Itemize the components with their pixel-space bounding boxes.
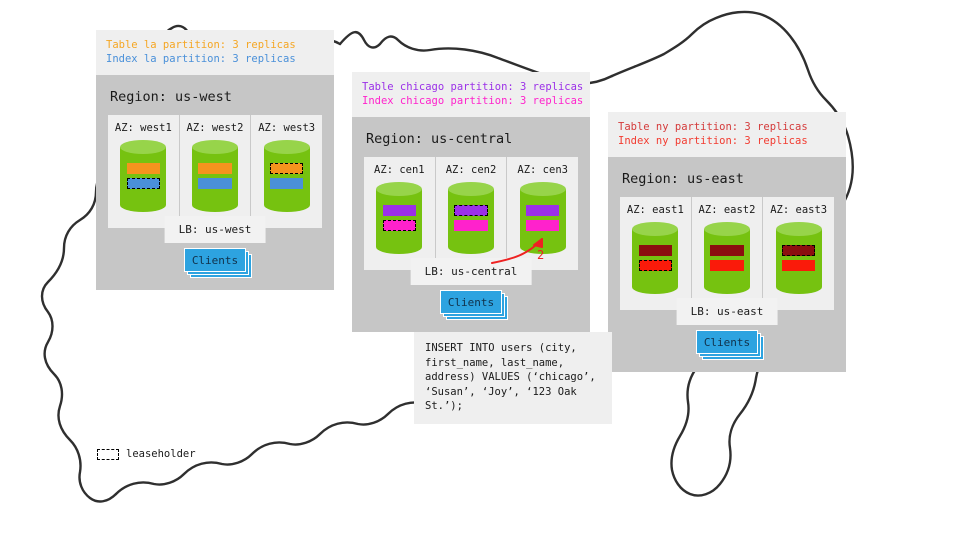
table-replica-bar bbox=[127, 163, 160, 174]
partition-line: Table chicago partition: 3 replicas bbox=[362, 80, 580, 94]
index-replica-bar bbox=[639, 260, 672, 271]
clients-stack-us-west[interactable]: Clients bbox=[184, 248, 246, 272]
clients-stack-us-central[interactable]: Clients bbox=[440, 290, 502, 314]
region-us-west: Table la partition: 3 replicasIndex la p… bbox=[96, 30, 334, 290]
az-cell-az-west1: AZ: west1 bbox=[108, 115, 179, 228]
replica-bars bbox=[120, 140, 166, 212]
database-cylinder bbox=[448, 182, 494, 254]
table-replica-bar bbox=[454, 205, 487, 216]
leaseholder-swatch-icon bbox=[97, 449, 119, 460]
az-strip-us-central: AZ: cen1AZ: cen2AZ: cen3 bbox=[364, 157, 578, 270]
az-cell-az-east2: AZ: east2 bbox=[691, 197, 763, 310]
table-replica-bar bbox=[710, 245, 743, 256]
az-cell-az-west3: AZ: west3 bbox=[250, 115, 322, 228]
partition-line: Index chicago partition: 3 replicas bbox=[362, 94, 580, 108]
legend-label: leaseholder bbox=[126, 448, 196, 460]
database-cylinder bbox=[192, 140, 238, 212]
diagram-canvas: Table la partition: 3 replicasIndex la p… bbox=[0, 0, 960, 540]
region-body-us-east: Region: us-eastAZ: east1AZ: east2AZ: eas… bbox=[608, 157, 846, 372]
az-cell-az-cen1: AZ: cen1 bbox=[364, 157, 435, 270]
index-replica-bar bbox=[383, 220, 416, 231]
index-replica-bar bbox=[526, 220, 559, 231]
az-label: AZ: cen2 bbox=[436, 164, 507, 176]
table-replica-bar bbox=[383, 205, 416, 216]
index-replica-bar bbox=[454, 220, 487, 231]
clients-row: Clients bbox=[620, 310, 834, 372]
database-cylinder bbox=[376, 182, 422, 254]
region-title: Region: us-east bbox=[622, 171, 834, 187]
az-label: AZ: west1 bbox=[108, 122, 179, 134]
partition-header-us-east: Table ny partition: 3 replicasIndex ny p… bbox=[608, 112, 846, 157]
az-label: AZ: west2 bbox=[180, 122, 251, 134]
database-cylinder bbox=[120, 140, 166, 212]
partition-line: Index la partition: 3 replicas bbox=[106, 52, 324, 66]
replica-bars bbox=[192, 140, 238, 212]
step-number-label: 2 bbox=[537, 248, 544, 262]
partition-line: Index ny partition: 3 replicas bbox=[618, 134, 836, 148]
replica-bars bbox=[704, 222, 750, 294]
sql-statement-callout: INSERT INTO users (city, first_name, las… bbox=[414, 332, 612, 424]
replica-bars bbox=[264, 140, 310, 212]
table-replica-bar bbox=[526, 205, 559, 216]
az-strip-us-west: AZ: west1AZ: west2AZ: west3 bbox=[108, 115, 322, 228]
index-replica-bar bbox=[198, 178, 231, 189]
az-label: AZ: east3 bbox=[763, 204, 834, 216]
az-cell-az-east3: AZ: east3 bbox=[762, 197, 834, 310]
database-cylinder bbox=[264, 140, 310, 212]
az-cell-az-west2: AZ: west2 bbox=[179, 115, 251, 228]
az-label: AZ: east2 bbox=[692, 204, 763, 216]
az-strip-us-east: AZ: east1AZ: east2AZ: east3 bbox=[620, 197, 834, 310]
region-us-central: Table chicago partition: 3 replicasIndex… bbox=[352, 72, 590, 332]
index-replica-bar bbox=[710, 260, 743, 271]
replica-bars bbox=[520, 182, 566, 254]
az-label: AZ: west3 bbox=[251, 122, 322, 134]
table-replica-bar bbox=[639, 245, 672, 256]
region-title: Region: us-central bbox=[366, 131, 578, 147]
clients-stack-us-east[interactable]: Clients bbox=[696, 330, 758, 354]
database-cylinder bbox=[520, 182, 566, 254]
partition-header-us-central: Table chicago partition: 3 replicasIndex… bbox=[352, 72, 590, 117]
region-body-us-central: Region: us-centralAZ: cen1AZ: cen2AZ: ce… bbox=[352, 117, 590, 332]
database-cylinder bbox=[632, 222, 678, 294]
clients-button[interactable]: Clients bbox=[696, 330, 758, 354]
replica-bars bbox=[776, 222, 822, 294]
index-replica-bar bbox=[782, 260, 815, 271]
clients-button[interactable]: Clients bbox=[184, 248, 246, 272]
index-replica-bar bbox=[270, 178, 303, 189]
clients-button[interactable]: Clients bbox=[440, 290, 502, 314]
az-label: AZ: cen1 bbox=[364, 164, 435, 176]
clients-row: Clients bbox=[108, 228, 322, 290]
table-replica-bar bbox=[782, 245, 815, 256]
clients-row: Clients bbox=[364, 270, 578, 332]
database-cylinder bbox=[776, 222, 822, 294]
region-us-east: Table ny partition: 3 replicasIndex ny p… bbox=[608, 112, 846, 372]
replica-bars bbox=[448, 182, 494, 254]
az-cell-az-east1: AZ: east1 bbox=[620, 197, 691, 310]
partition-line: Table ny partition: 3 replicas bbox=[618, 120, 836, 134]
database-cylinder bbox=[704, 222, 750, 294]
partition-header-us-west: Table la partition: 3 replicasIndex la p… bbox=[96, 30, 334, 75]
region-title: Region: us-west bbox=[110, 89, 322, 105]
az-label: AZ: cen3 bbox=[507, 164, 578, 176]
partition-line: Table la partition: 3 replicas bbox=[106, 38, 324, 52]
az-cell-az-cen2: AZ: cen2 bbox=[435, 157, 507, 270]
replica-bars bbox=[376, 182, 422, 254]
replica-bars bbox=[632, 222, 678, 294]
table-replica-bar bbox=[198, 163, 231, 174]
az-label: AZ: east1 bbox=[620, 204, 691, 216]
index-replica-bar bbox=[127, 178, 160, 189]
region-body-us-west: Region: us-westAZ: west1AZ: west2AZ: wes… bbox=[96, 75, 334, 290]
legend: leaseholder bbox=[97, 448, 196, 460]
table-replica-bar bbox=[270, 163, 303, 174]
